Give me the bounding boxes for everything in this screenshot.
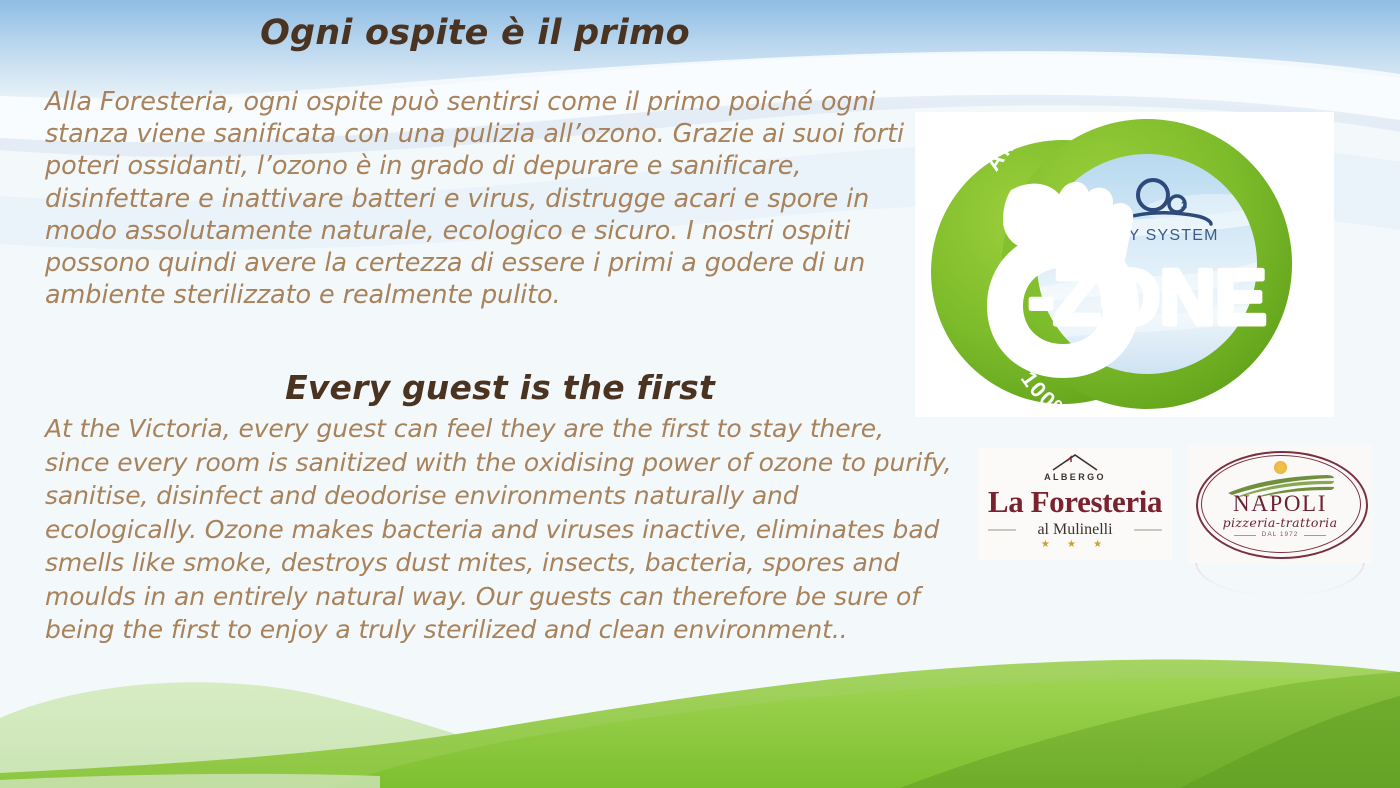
logo-napoli: NAPOLI pizzeria-trattoria DAL 1972 [1188,445,1372,563]
foresteria-stars: ★ ★ ★ [978,539,1172,550]
ozone-badge-logo: 3 SANITY SYSTEM -ZONE AMBIENTE SANIFICAT… [915,112,1334,417]
page-title-english: Every guest is the first [0,368,1000,407]
napoli-established: DAL 1972 [1188,531,1372,538]
foresteria-name: La Foresteria [978,484,1172,520]
napoli-name: NAPOLI [1188,491,1372,517]
body-paragraph-italian: Alla Foresteria, ogni ospite può sentirs… [45,86,925,311]
body-paragraph-english: At the Victoria, every guest can feel th… [45,412,955,647]
foresteria-subtitle: al Mulinelli [978,521,1172,539]
svg-text:3: 3 [1181,200,1187,212]
ozone-wordmark: -ZONE [1028,253,1266,341]
napoli-logo-reflection [1188,560,1372,606]
slide-canvas: Ogni ospite è il primo Every guest is th… [0,0,1400,788]
ozone-certification-panel: 3 SANITY SYSTEM -ZONE AMBIENTE SANIFICAT… [915,112,1334,417]
napoli-subtitle: pizzeria-trattoria [1188,515,1372,530]
page-title-italian: Ogni ospite è il primo [0,13,950,53]
foresteria-eyebrow: ALBERGO [978,472,1172,482]
ozone-arc-right: CON OZONO [1289,253,1321,352]
logo-la-foresteria: ALBERGO La Foresteria al Mulinelli ★ ★ ★ [978,448,1172,560]
